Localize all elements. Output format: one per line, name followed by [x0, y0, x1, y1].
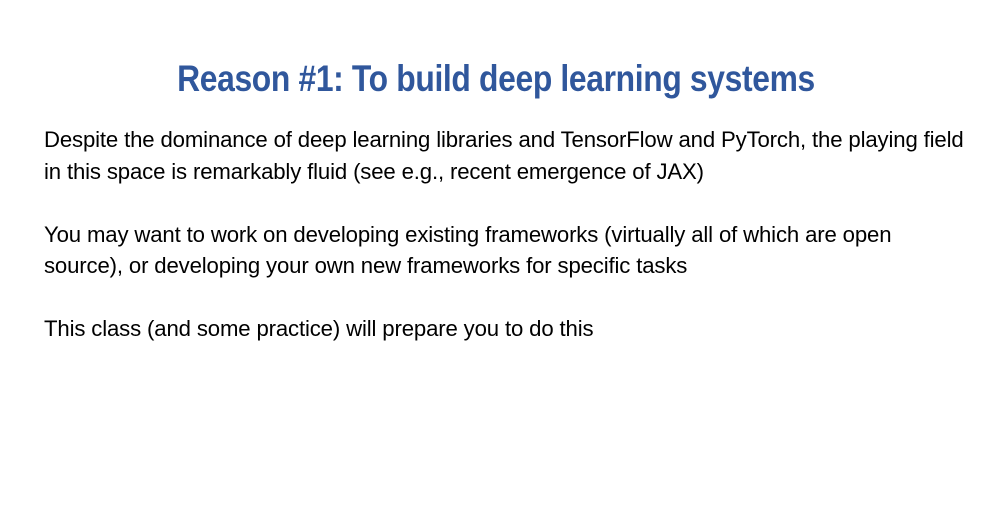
slide-canvas: Reason #1: To build deep learning system…: [0, 0, 992, 528]
body-paragraph-3: This class (and some practice) will prep…: [44, 313, 734, 345]
body-paragraph-1: Despite the dominance of deep learning l…: [44, 124, 965, 187]
page-title: Reason #1: To build deep learning system…: [69, 56, 922, 102]
body-paragraph-2: You may want to work on developing exist…: [44, 219, 960, 282]
slide-body: Despite the dominance of deep learning l…: [44, 124, 980, 345]
